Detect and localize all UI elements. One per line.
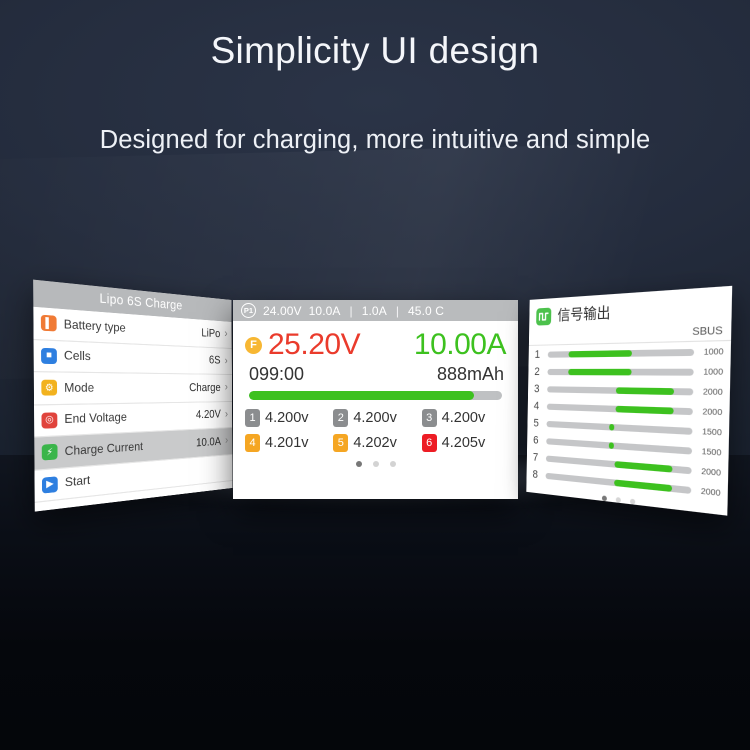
right-screen: 信号输出 SBUS 110002100032000420005150061500… — [526, 286, 732, 516]
channel-value: 1500 — [697, 426, 722, 438]
page-dot[interactable] — [601, 495, 606, 501]
channel-value: 1000 — [698, 366, 723, 377]
primary-readout: F 25.20V 10.00A — [233, 321, 518, 362]
left-device: Lipo 6S Charge ▌Battery typeLiPo›■Cells6… — [36, 300, 232, 488]
battery-icon: ▌ — [41, 315, 57, 332]
channel-value: 2000 — [697, 406, 722, 417]
channel-number: 3 — [534, 383, 544, 395]
channel-value: 1000 — [699, 346, 724, 357]
channel-slider-fill — [614, 479, 672, 491]
setting-label: Start — [65, 462, 224, 490]
setting-label: Cells — [64, 349, 209, 367]
setting-value: LiPo — [201, 327, 220, 340]
channel-value: 2000 — [696, 465, 721, 478]
channel-slider-fill — [609, 442, 615, 449]
cell-readout: 54.202v — [333, 434, 419, 452]
pack-voltage-value: 25.20V — [268, 328, 360, 362]
charge-current-value: 10.00A — [414, 328, 506, 362]
status-bar: P1 24.00V 10.0A | 1.0A | 45.0 C — [233, 300, 518, 321]
end-voltage-icon: ◎ — [42, 412, 58, 428]
channel-slider-track[interactable] — [548, 348, 694, 357]
right-device: 信号输出 SBUS 110002100032000420005150061500… — [528, 300, 726, 492]
page-dot[interactable] — [373, 461, 379, 467]
chevron-right-icon: › — [225, 382, 228, 393]
channel-number: 2 — [534, 365, 544, 377]
left-screen: Lipo 6S Charge ▌Battery typeLiPo›■Cells6… — [33, 280, 232, 512]
channel-row: 21000 — [528, 361, 730, 381]
cell-index-badge: 5 — [333, 434, 348, 452]
cell-readout: 14.200v — [245, 409, 331, 427]
channel-number: 5 — [533, 417, 543, 430]
status-separator-2: | — [394, 304, 401, 318]
chevron-right-icon: › — [225, 355, 228, 366]
chevron-right-icon: › — [224, 329, 227, 340]
signal-output-title: 信号输出 — [557, 302, 610, 326]
setting-value: Charge — [189, 381, 221, 394]
setting-label: Mode — [64, 381, 189, 395]
settings-list: ▌Battery typeLiPo›■Cells6S›⚙ModeCharge›◎… — [33, 307, 232, 503]
setting-label: End Voltage — [64, 409, 196, 427]
status-aux-current: 1.0A — [362, 304, 387, 318]
channel-number: 6 — [533, 434, 543, 447]
cell-index-badge: 3 — [422, 409, 437, 427]
channel-number: 8 — [532, 468, 542, 481]
setting-label: Charge Current — [65, 437, 197, 459]
channel-slider-fill — [569, 350, 633, 357]
channel-value: 1500 — [697, 446, 722, 458]
channel-slider-fill — [614, 460, 672, 472]
cells-icon: ■ — [41, 348, 57, 364]
channel-slider-track[interactable] — [547, 368, 693, 375]
status-temperature: 45.0 C — [408, 304, 444, 318]
cell-voltage-value: 4.200v — [265, 410, 309, 426]
chevron-right-icon: › — [225, 409, 228, 420]
elapsed-time-value: 099:00 — [249, 364, 304, 385]
capacity-value: 888mAh — [437, 364, 504, 385]
channel-slider-fill — [615, 405, 673, 414]
page-dot[interactable] — [356, 461, 362, 467]
channel-number: 4 — [534, 400, 544, 412]
cell-index-badge: 6 — [422, 434, 437, 452]
charge-current-icon: ⚡ — [42, 444, 58, 461]
cell-voltage-value: 4.200v — [442, 410, 486, 426]
channel-slider-fill — [568, 368, 632, 375]
status-current: 10.0A — [309, 304, 341, 318]
cell-voltage-value: 4.205v — [442, 435, 486, 451]
secondary-readout: 099:00 888mAh — [233, 362, 518, 385]
cell-voltage-value: 4.200v — [353, 410, 397, 426]
port-badge: P1 — [241, 303, 256, 318]
channel-number: 1 — [535, 348, 545, 360]
cell-index-badge: 4 — [245, 434, 260, 452]
channel-row: 11000 — [529, 341, 731, 363]
page-dot[interactable] — [390, 461, 396, 467]
cell-voltage-grid: 14.200v24.200v34.200v44.201v54.202v64.20… — [233, 400, 518, 452]
center-screen: P1 24.00V 10.0A | 1.0A | 45.0 C F 25.20V… — [233, 300, 518, 499]
start-icon: ▶ — [42, 476, 58, 493]
channel-value: 2000 — [698, 386, 723, 397]
page-dot[interactable] — [629, 499, 634, 505]
page-dot[interactable] — [615, 497, 620, 503]
channel-slider-track[interactable] — [547, 386, 693, 395]
mode-icon: ⚙ — [41, 380, 57, 396]
cell-readout: 34.200v — [422, 409, 508, 427]
channel-slider-fill — [609, 423, 615, 430]
setting-value: 10.0A — [196, 435, 221, 449]
setting-row-mode[interactable]: ⚙ModeCharge› — [34, 372, 232, 405]
progress-bar-fill — [249, 391, 474, 400]
page-title: Simplicity UI design — [0, 30, 750, 72]
progress-bar-track — [249, 391, 502, 400]
chevron-right-icon: › — [225, 435, 228, 446]
page-dots[interactable] — [233, 452, 518, 467]
channel-slider-track[interactable] — [547, 420, 693, 434]
page-subtitle: Designed for charging, more intuitive an… — [0, 126, 750, 155]
setting-value: 4.20V — [196, 409, 221, 422]
cell-index-badge: 1 — [245, 409, 260, 427]
setting-label: Battery type — [64, 317, 202, 339]
setting-value: 6S — [209, 354, 221, 367]
cell-voltage-value: 4.201v — [265, 435, 309, 451]
channel-value: 2000 — [696, 485, 721, 498]
status-voltage: 24.00V — [263, 304, 302, 318]
channel-slider-fill — [615, 387, 673, 395]
channel-list: 1100021000320004200051500615007200082000 — [526, 341, 731, 504]
screenshot-stage: Simplicity UI design Designed for chargi… — [0, 0, 750, 750]
channel-slider-track[interactable] — [547, 403, 693, 414]
cell-readout: 44.201v — [245, 434, 331, 452]
cell-readout: 24.200v — [333, 409, 419, 427]
cell-voltage-value: 4.202v — [353, 435, 397, 451]
mode-badge: F — [245, 337, 262, 354]
cell-readout: 64.205v — [422, 434, 508, 452]
square-wave-icon — [536, 307, 551, 325]
cell-index-badge: 2 — [333, 409, 348, 427]
channel-number: 7 — [533, 451, 543, 464]
status-separator-1: | — [348, 304, 355, 318]
